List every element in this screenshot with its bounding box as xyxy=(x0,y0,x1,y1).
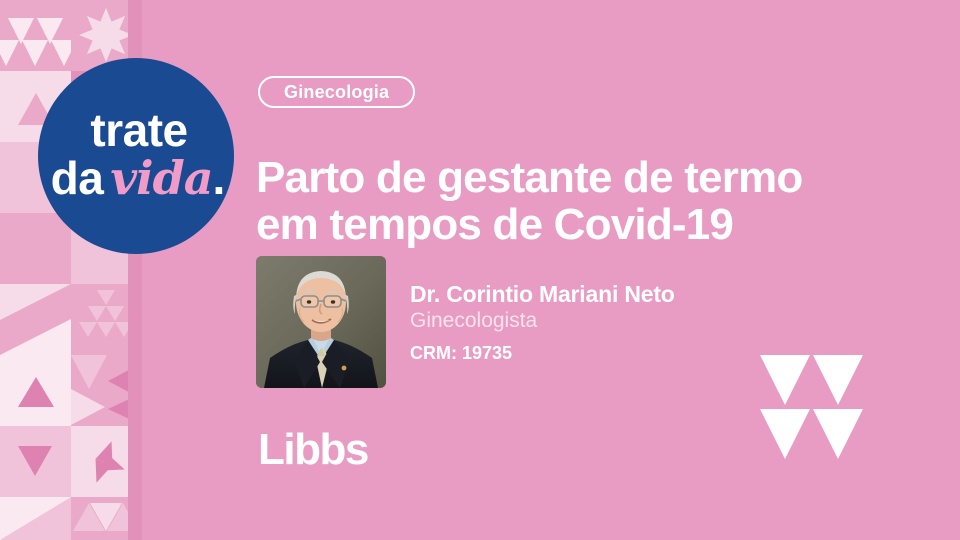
speaker-name: Dr. Corintio Mariani Neto xyxy=(410,281,770,307)
speaker-portrait xyxy=(256,256,386,388)
pattern-tile-diagonal-a xyxy=(0,284,71,355)
speaker-crm-number: CRM: 19735 xyxy=(410,343,770,364)
logo-word-da: da xyxy=(51,152,104,204)
logo-line-da-vida: davida. xyxy=(38,155,234,201)
logo-word-vida: vida xyxy=(110,151,212,205)
pattern-tile-w-logo xyxy=(0,0,71,71)
category-badge: Ginecologia xyxy=(258,76,415,108)
pattern-tile-plain-d xyxy=(0,213,71,284)
pattern-tile-diagonal-b xyxy=(0,497,71,540)
speaker-portrait-illustration xyxy=(256,256,386,388)
pattern-tile-triangle-up-2 xyxy=(0,355,71,426)
page-title: Parto de gestante de termo em tempos de … xyxy=(256,155,916,248)
speaker-info: Dr. Corintio Mariani Neto Ginecologista … xyxy=(410,281,770,363)
pattern-tile-triangle-down xyxy=(0,426,71,497)
libbs-logo: Libbs xyxy=(258,428,368,472)
libbs-w-mark-icon xyxy=(760,355,866,461)
category-badge-label: Ginecologia xyxy=(284,82,389,103)
presentation-slide: trate davida. Ginecologia Parto de gesta… xyxy=(0,0,960,540)
trate-da-vida-logo: trate davida. xyxy=(38,58,234,254)
logo-text-group: trate davida. xyxy=(38,107,234,201)
logo-period: . xyxy=(213,152,226,204)
logo-line-trate: trate xyxy=(38,107,234,153)
speaker-specialty: Ginecologista xyxy=(410,309,770,333)
